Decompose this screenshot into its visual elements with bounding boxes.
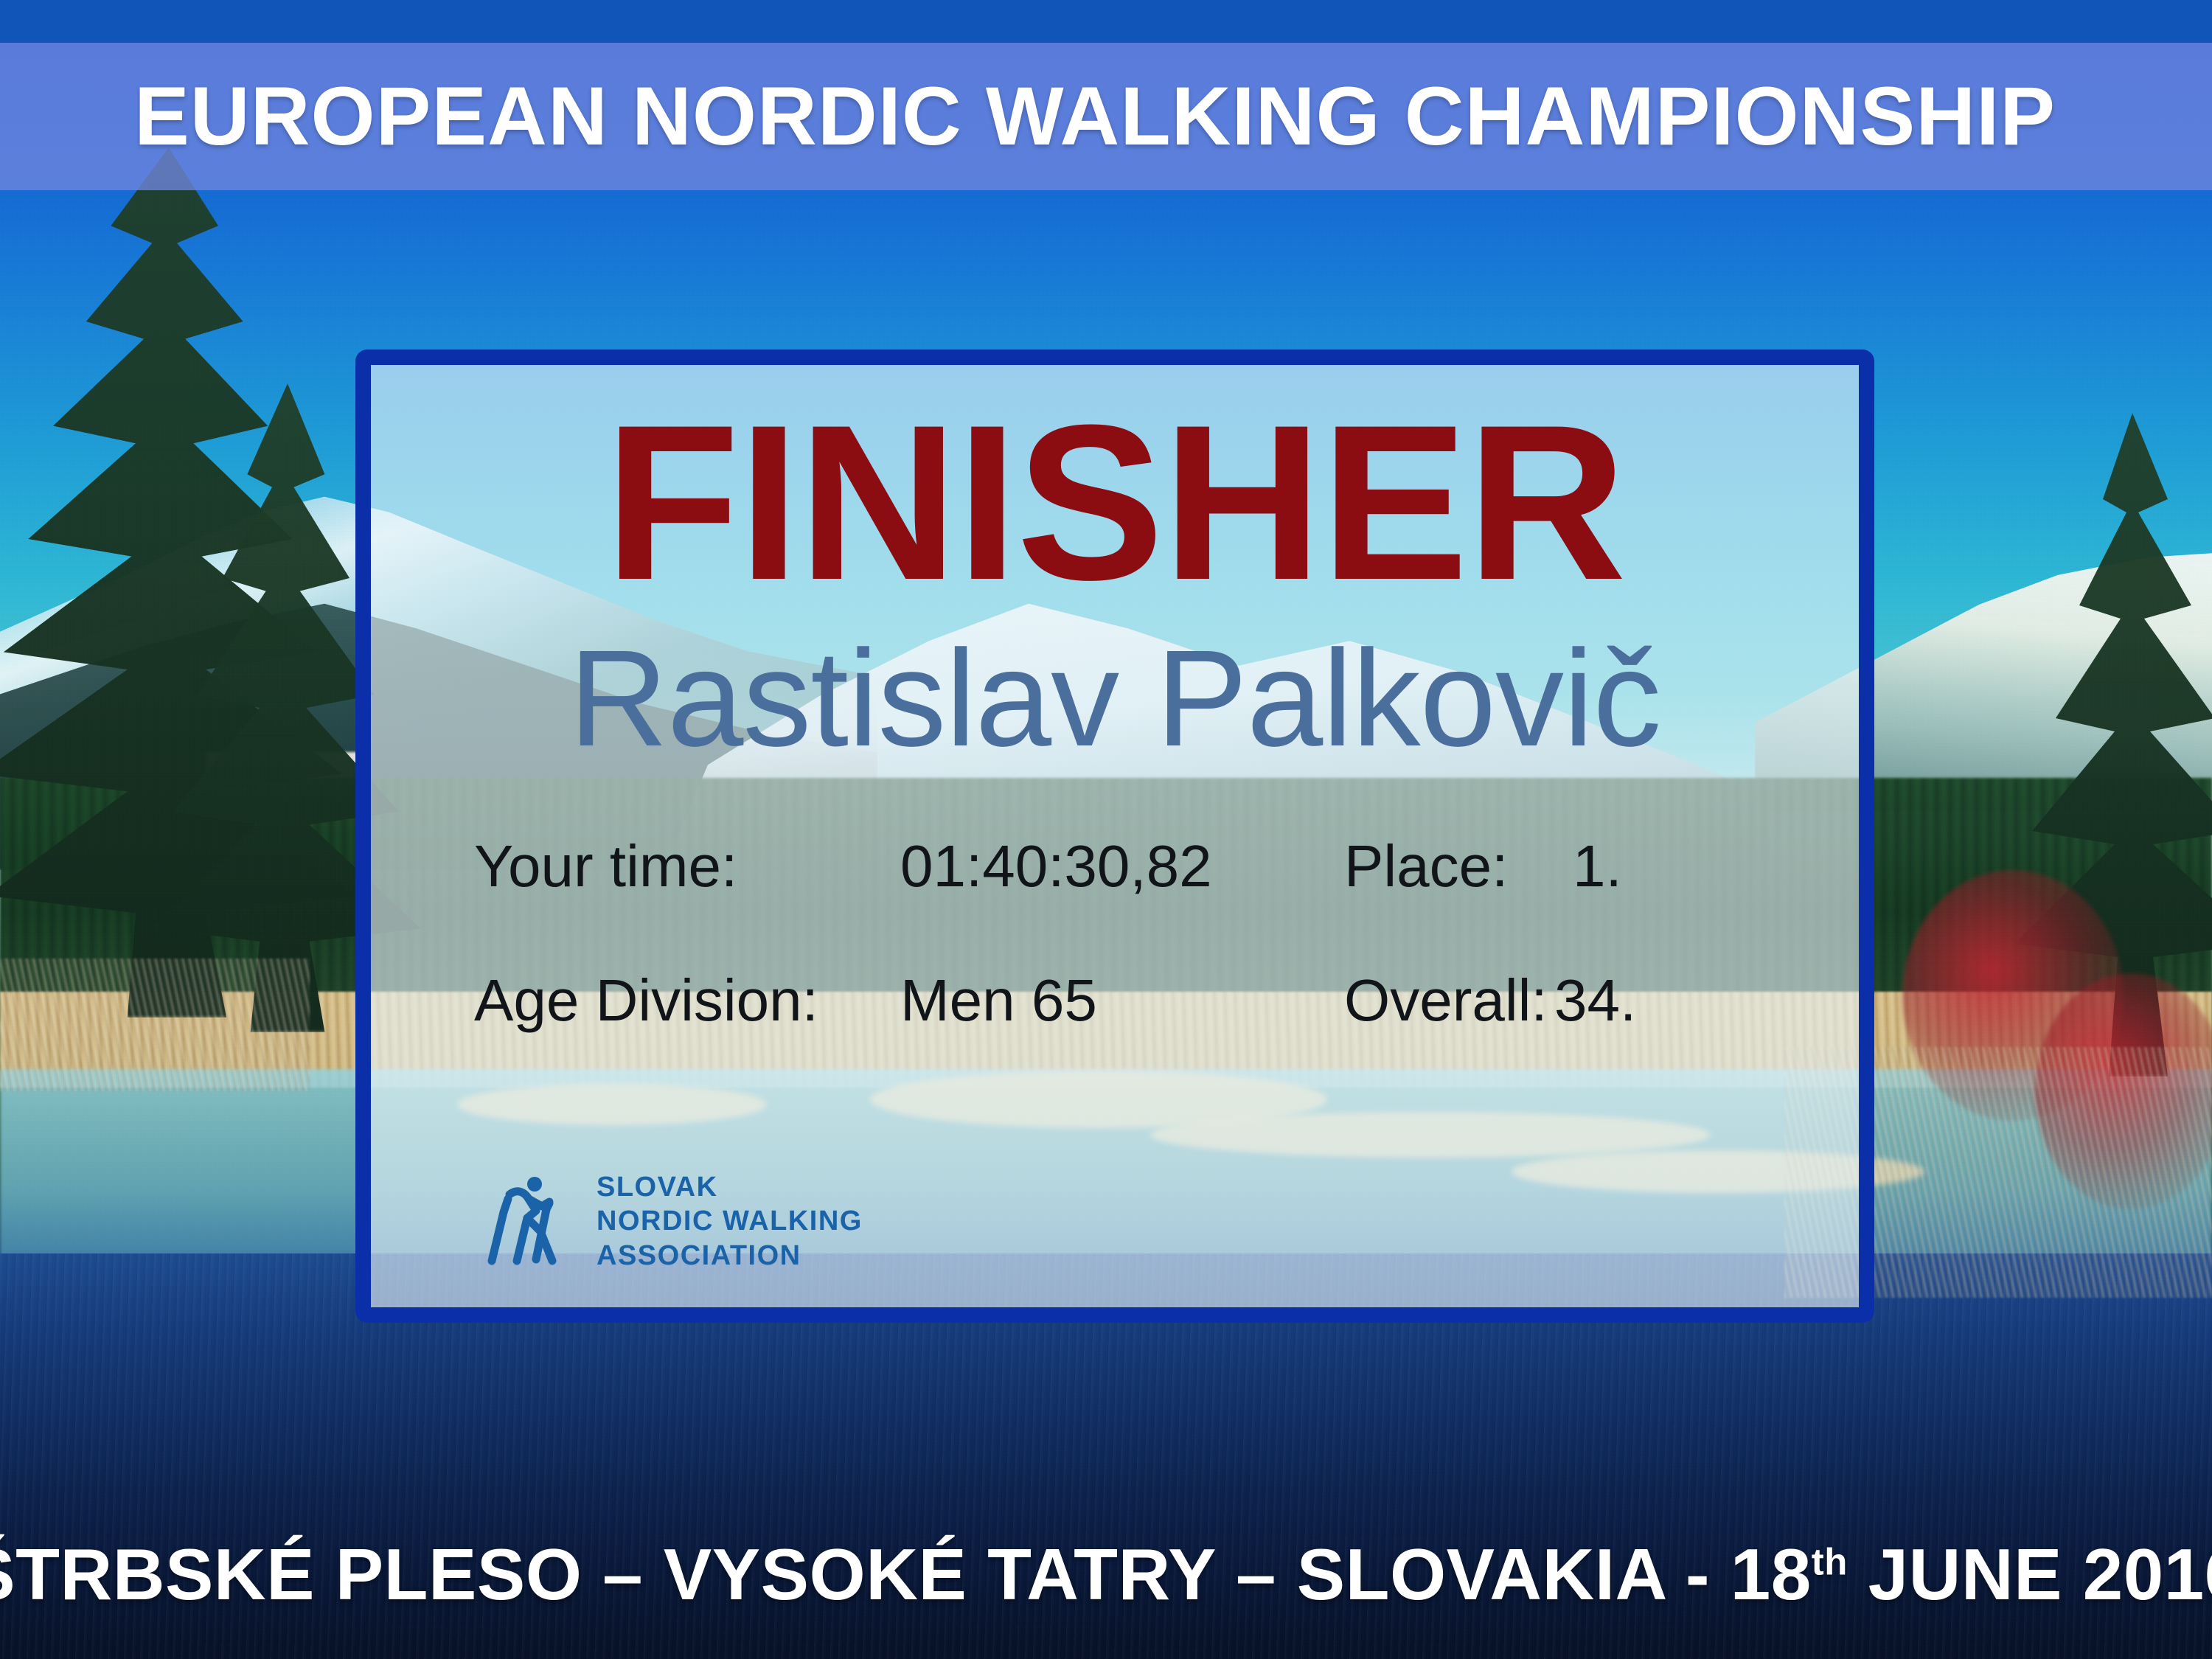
place-value: 1.: [1573, 837, 1622, 896]
finisher-heading: FINISHER: [371, 392, 1859, 613]
dry-brush: [0, 959, 310, 1091]
certificate-card-inner: FINISHER Rastislav Palkovič Your time: 0…: [371, 365, 1859, 1307]
header-title: EUROPEAN NORDIC WALKING CHAMPIONSHIP: [0, 75, 2212, 158]
stat-row: Your time: 01:40:30,82 Place: 1.: [371, 837, 1859, 918]
footer-prefix: ŠTRBSKÉ PLESO – VYSOKÉ TATRY – SLOVAKIA …: [0, 1534, 1812, 1615]
logo-line-1: SLOVAK: [597, 1170, 863, 1204]
your-time-value: 01:40:30,82: [900, 837, 1212, 896]
overall-label: Overall:: [1344, 971, 1548, 1030]
certificate-page: EUROPEAN NORDIC WALKING CHAMPIONSHIP FIN…: [0, 0, 2212, 1659]
footer-location-date: ŠTRBSKÉ PLESO – VYSOKÉ TATRY – SLOVAKIA …: [0, 1538, 2212, 1610]
nordic-walker-icon: [481, 1174, 577, 1270]
top-color-strip: [0, 0, 2212, 43]
footer-banner: ŠTRBSKÉ PLESO – VYSOKÉ TATRY – SLOVAKIA …: [0, 1489, 2212, 1659]
footer-suffix: JUNE 2016: [1848, 1534, 2212, 1615]
age-division-label: Age Division:: [474, 971, 818, 1030]
logo-line-2: NORDIC WALKING: [597, 1204, 863, 1238]
overall-value: 34.: [1554, 971, 1636, 1030]
association-logo-text: SLOVAK NORDIC WALKING ASSOCIATION: [597, 1170, 863, 1273]
result-stats: Your time: 01:40:30,82 Place: 1. Age Div…: [371, 837, 1859, 1052]
footer-ordinal-suffix: th: [1812, 1540, 1848, 1582]
stat-row: Age Division: Men 65 Overall: 34.: [371, 971, 1859, 1052]
certificate-card: FINISHER Rastislav Palkovič Your time: 0…: [355, 349, 1874, 1323]
athlete-name: Rastislav Palkovič: [371, 630, 1859, 768]
header-banner: EUROPEAN NORDIC WALKING CHAMPIONSHIP: [0, 43, 2212, 190]
association-logo: SLOVAK NORDIC WALKING ASSOCIATION: [481, 1170, 863, 1273]
place-label: Place:: [1344, 837, 1508, 896]
your-time-label: Your time:: [474, 837, 737, 896]
age-division-value: Men 65: [900, 971, 1097, 1030]
logo-line-3: ASSOCIATION: [597, 1239, 863, 1273]
